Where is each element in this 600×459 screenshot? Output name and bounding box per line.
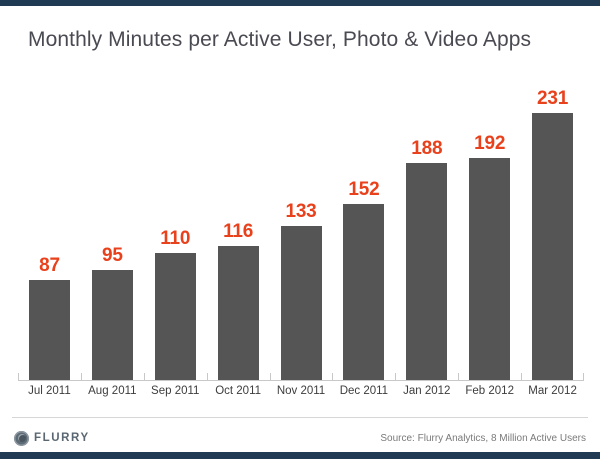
bottom-frame-bar	[0, 452, 600, 459]
axis-tick	[207, 373, 208, 380]
axis-tick	[458, 373, 459, 380]
bar-value-label: 87	[39, 256, 60, 275]
x-axis-tick-label: Nov 2011	[270, 385, 333, 397]
bar-group: 152	[332, 80, 395, 380]
bar-value-label: 152	[348, 180, 379, 199]
top-frame-bar	[0, 0, 600, 6]
bar-group: 116	[207, 80, 270, 380]
bar-value-label: 192	[474, 134, 505, 153]
axis-tick	[81, 373, 82, 380]
x-axis-tick-label: Mar 2012	[521, 385, 584, 397]
footer-divider	[12, 417, 588, 418]
x-axis-line	[18, 380, 584, 381]
bar-rect	[469, 158, 510, 380]
bar-rect	[155, 253, 196, 380]
bar-group: 87	[18, 80, 81, 380]
x-axis-tick-label: Oct 2011	[207, 385, 270, 397]
x-axis-tick-label: Sep 2011	[144, 385, 207, 397]
page-title: Monthly Minutes per Active User, Photo &…	[28, 28, 588, 52]
flurry-circle-icon	[14, 431, 29, 446]
axis-tick	[395, 373, 396, 380]
x-axis-labels: Jul 2011 Aug 2011 Sep 2011 Oct 2011 Nov …	[18, 385, 584, 397]
bar-group: 231	[521, 80, 584, 380]
x-axis-tick-label: Aug 2011	[81, 385, 144, 397]
axis-tick	[270, 373, 271, 380]
bar-value-label: 133	[285, 202, 316, 221]
bar-rect	[343, 204, 384, 380]
logo-wordmark: FLURRY	[34, 432, 90, 444]
bar-rect	[29, 280, 70, 380]
bar-value-label: 188	[411, 139, 442, 158]
bar-value-label: 95	[102, 246, 123, 265]
x-axis-tick-label: Jul 2011	[18, 385, 81, 397]
flurry-logo: FLURRY	[14, 431, 90, 446]
axis-tick	[332, 373, 333, 380]
bar-rect	[218, 246, 259, 380]
x-axis-tick-label: Jan 2012	[395, 385, 458, 397]
bar-rect	[281, 226, 322, 380]
bar-value-label: 231	[537, 89, 568, 108]
bar-rect	[92, 270, 133, 380]
axis-tick	[583, 373, 584, 380]
footer: FLURRY Source: Flurry Analytics, 8 Milli…	[0, 424, 600, 452]
x-axis-tick-label: Dec 2011	[332, 385, 395, 397]
plot-area: 87 95 110 116 133 152	[18, 80, 584, 380]
bar-group: 133	[270, 80, 333, 380]
bar-group: 192	[458, 80, 521, 380]
source-note: Source: Flurry Analytics, 8 Million Acti…	[380, 433, 586, 444]
bar-rect	[406, 163, 447, 380]
bar-value-label: 110	[160, 229, 190, 248]
axis-tick	[18, 373, 19, 380]
x-axis-tick-label: Feb 2012	[458, 385, 521, 397]
axis-tick	[521, 373, 522, 380]
bar-group: 95	[81, 80, 144, 380]
x-axis-ticks	[18, 373, 584, 380]
bar-rect	[532, 113, 573, 380]
bar-group: 188	[395, 80, 458, 380]
axis-tick	[144, 373, 145, 380]
bars-row: 87 95 110 116 133 152	[18, 80, 584, 380]
bar-value-label: 116	[223, 222, 253, 241]
chart-page: Monthly Minutes per Active User, Photo &…	[0, 0, 600, 459]
bar-group: 110	[144, 80, 207, 380]
